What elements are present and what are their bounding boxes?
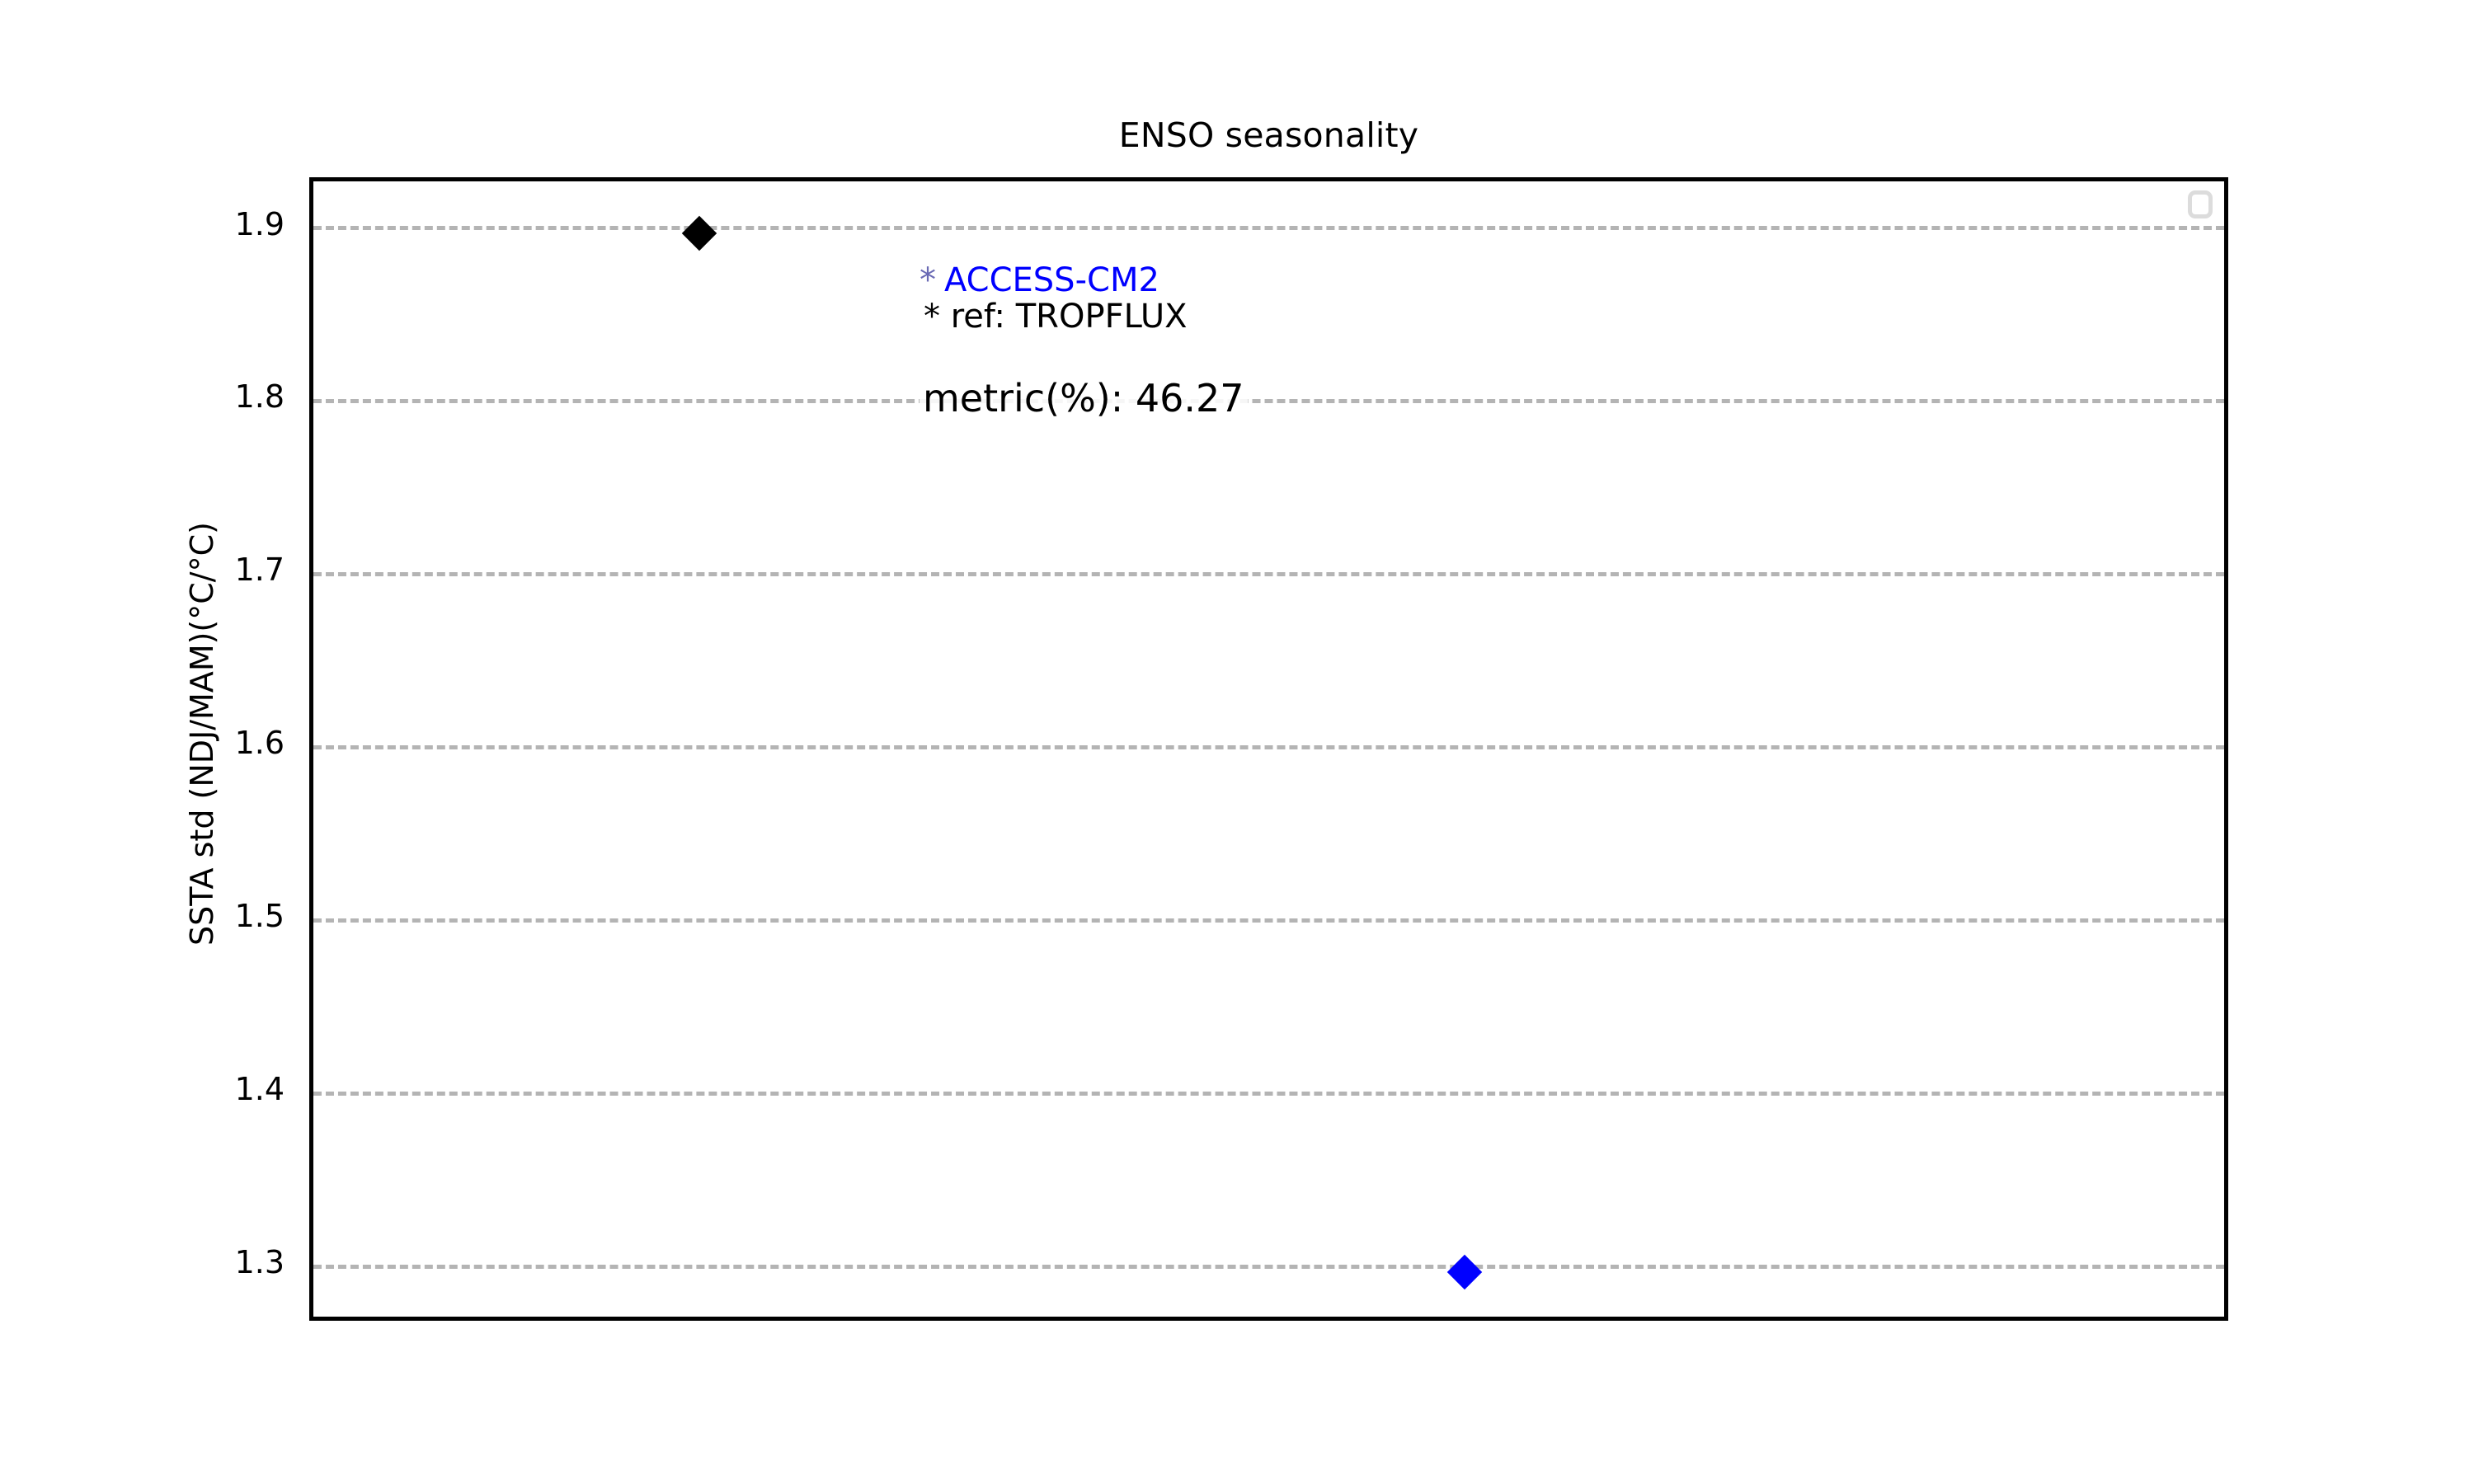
gridline-1-9 [313,226,2224,230]
model-name-label: ACCESS-CM2 [944,261,1159,299]
gridline-1-5 [313,918,2224,923]
data-point-model[interactable] [1447,1255,1482,1289]
chart-title: ENSO seasonality [309,115,2228,155]
y-tick-label-group: 1.9 1.8 1.7 1.6 1.5 1.4 1.3 [0,0,285,1484]
model-star-glyph: * [920,261,936,299]
chart-canvas: ENSO seasonality SSTA std (NDJ/MAM)(°C/°… [0,0,2474,1484]
gridline-1-3 [313,1265,2224,1269]
data-point-reference[interactable] [682,216,717,251]
legend-box-icon[interactable] [2188,190,2213,218]
gridline-1-7 [313,572,2224,576]
model-annotation: *ACCESS-CM2 [920,261,1159,299]
gridline-1-6 [313,745,2224,749]
reference-annotation: * ref: TROPFLUX [924,298,1188,336]
plot-inner: metric(%): 46.27 * ref: TROPFLUX *ACCESS… [313,181,2224,1317]
metric-annotation: metric(%): 46.27 [920,376,1248,420]
y-tick-label: 1.3 [120,1244,285,1280]
y-tick-label: 1.7 [120,552,285,588]
gridline-1-4 [313,1092,2224,1096]
y-tick-label: 1.8 [120,378,285,415]
y-tick-label: 1.4 [120,1071,285,1107]
plot-area: metric(%): 46.27 * ref: TROPFLUX *ACCESS… [309,177,2228,1321]
y-tick-label: 1.9 [120,206,285,242]
gridline-1-8 [313,399,2224,403]
y-tick-label: 1.5 [120,898,285,934]
y-tick-label: 1.6 [120,725,285,761]
